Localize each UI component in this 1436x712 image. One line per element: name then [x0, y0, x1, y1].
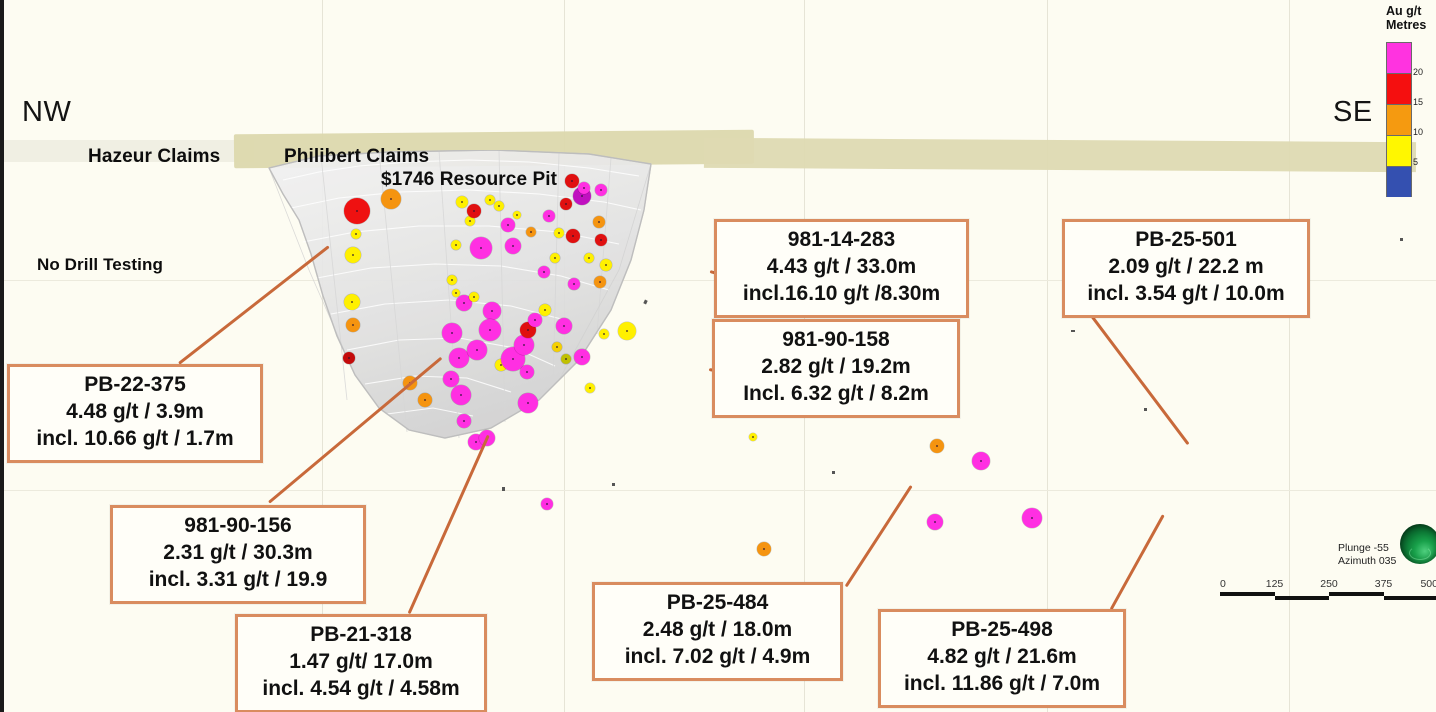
callout-hole-id: PB-21-318: [248, 622, 474, 649]
drill-intercept-disc: [494, 201, 504, 211]
callout-interval: 2.09 g/t / 22.2 m: [1075, 254, 1297, 281]
drill-intercept-disc: [485, 195, 495, 205]
drill-intercept-disc: [595, 184, 607, 196]
drill-intercept-disc: [346, 318, 360, 332]
callout-included-interval: incl. 4.54 g/t / 4.58m: [248, 676, 474, 703]
drill-intercept-disc: [479, 319, 501, 341]
legend-swatch: [1386, 166, 1412, 197]
drill-intercept-disc: [585, 383, 595, 393]
callout-hole-id: PB-25-498: [891, 617, 1113, 644]
drill-intercept-disc: [451, 385, 471, 405]
rock-speck: [1071, 330, 1075, 332]
rock-speck: [502, 487, 505, 491]
callout-interval: 4.43 g/t / 33.0m: [727, 254, 956, 281]
drill-intercept-disc: [749, 433, 757, 441]
drill-intercept-disc: [381, 189, 401, 209]
drill-intercept-disc: [556, 318, 572, 334]
callout-pb-22-375[interactable]: PB-22-3754.48 g/t / 3.9mincl. 10.66 g/t …: [7, 364, 263, 463]
scale-bar-ticks: 0125250375500: [1220, 578, 1436, 592]
view-orientation-text: Plunge -55 Azimuth 035: [1338, 542, 1396, 568]
callout-interval: 2.82 g/t / 19.2m: [725, 354, 947, 381]
drill-intercept-disc: [543, 210, 555, 222]
drill-intercept-disc: [593, 216, 605, 228]
drill-intercept-disc: [574, 349, 590, 365]
drill-intercept-disc: [757, 542, 771, 556]
scale-tick-label: 0: [1220, 578, 1226, 590]
drill-intercept-disc: [565, 174, 579, 188]
gridline-vertical: [1289, 0, 1290, 712]
legend-swatch: [1386, 104, 1412, 135]
legend-tick-label: 15: [1413, 97, 1423, 107]
scale-seg: [1329, 592, 1384, 596]
drill-intercept-disc: [514, 335, 534, 355]
callout-included-interval: incl. 10.66 g/t / 1.7m: [20, 426, 250, 453]
legend-color-bar: 2015105: [1386, 42, 1410, 197]
scale-tick-label: 125: [1266, 578, 1284, 590]
drill-intercept-disc: [351, 229, 361, 239]
section-label-philibert-claims: Philibert Claims: [284, 146, 429, 168]
rock-speck: [1400, 238, 1403, 241]
legend-title-line2: Metres: [1386, 18, 1430, 32]
drill-intercept-disc: [518, 393, 538, 413]
callout-interval: 2.48 g/t / 18.0m: [605, 617, 830, 644]
legend-tick-label: 5: [1413, 157, 1418, 167]
callout-interval: 1.47 g/t/ 17.0m: [248, 649, 474, 676]
drill-intercept-disc: [467, 340, 487, 360]
drill-intercept-disc: [528, 313, 542, 327]
orientation-label-nw: NW: [22, 96, 71, 129]
drill-intercept-disc: [526, 227, 536, 237]
scale-bar: 0125250375500: [1220, 578, 1436, 600]
azimuth-value: Azimuth 035: [1338, 555, 1396, 568]
legend-title-line1: Au g/t: [1386, 4, 1430, 18]
drill-intercept-disc: [505, 238, 521, 254]
drill-intercept-disc: [930, 439, 944, 453]
callout-included-interval: Incl. 6.32 g/t / 8.2m: [725, 381, 947, 408]
callout-hole-id: PB-22-375: [20, 372, 250, 399]
drill-intercept-disc: [566, 229, 580, 243]
scale-tick-label: 250: [1320, 578, 1338, 590]
rock-speck: [832, 471, 835, 474]
drill-intercept-disc: [469, 292, 479, 302]
orientation-sphere-icon: [1400, 524, 1436, 564]
drill-intercept-disc: [344, 294, 360, 310]
drill-intercept-disc: [600, 259, 612, 271]
gridline-horizontal: [4, 490, 1436, 491]
cross-section-figure: NW SE Hazeur ClaimsPhilibert Claims$1746…: [0, 0, 1436, 712]
drill-intercept-disc: [595, 234, 607, 246]
callout-included-interval: incl. 3.54 g/t / 10.0m: [1075, 281, 1297, 308]
drill-intercept-disc: [541, 498, 553, 510]
drill-intercept-disc: [451, 240, 461, 250]
callout-pb-25-501[interactable]: PB-25-5012.09 g/t / 22.2 mincl. 3.54 g/t…: [1062, 219, 1310, 318]
callout-hole-id: 981-90-158: [725, 327, 947, 354]
drill-intercept-disc: [418, 393, 432, 407]
callout-leader-line: [1091, 316, 1190, 446]
drill-intercept-disc: [449, 348, 469, 368]
callout-interval: 4.82 g/t / 21.6m: [891, 644, 1113, 671]
drill-intercept-disc: [578, 182, 590, 194]
drill-intercept-disc: [554, 228, 564, 238]
callout-981-90-156[interactable]: 981-90-1562.31 g/t / 30.3mincl. 3.31 g/t…: [110, 505, 366, 604]
callout-hole-id: 981-14-283: [727, 227, 956, 254]
legend-tick-label: 10: [1413, 127, 1423, 137]
drill-intercept-disc: [447, 275, 457, 285]
drill-intercept-disc: [561, 354, 571, 364]
drill-intercept-disc: [456, 196, 468, 208]
gridline-vertical: [322, 0, 323, 712]
drill-intercept-disc: [550, 253, 560, 263]
legend-swatch: [1386, 135, 1412, 166]
callout-hole-id: PB-25-484: [605, 590, 830, 617]
scale-bar-segments: [1220, 592, 1436, 600]
callout-pb-25-484[interactable]: PB-25-4842.48 g/t / 18.0mincl. 7.02 g/t …: [592, 582, 843, 681]
drill-intercept-disc: [594, 276, 606, 288]
callout-leader-line: [268, 357, 442, 504]
drill-intercept-disc: [552, 342, 562, 352]
legend-tick-label: 20: [1413, 67, 1423, 77]
callout-pb-21-318[interactable]: PB-21-3181.47 g/t/ 17.0mincl. 4.54 g/t /…: [235, 614, 487, 712]
legend-swatch: [1386, 42, 1412, 73]
section-label-no-drill-testing: No Drill Testing: [37, 255, 163, 275]
rock-speck: [612, 483, 615, 486]
scale-seg: [1384, 596, 1436, 600]
section-label-hazeur-claims: Hazeur Claims: [88, 146, 220, 168]
drill-intercept-disc: [501, 218, 515, 232]
callout-included-interval: incl. 11.86 g/t / 7.0m: [891, 671, 1113, 698]
rock-speck: [1144, 408, 1147, 411]
drill-intercept-disc: [584, 253, 594, 263]
callout-leader-line: [408, 435, 490, 614]
drill-intercept-disc: [470, 237, 492, 259]
callout-included-interval: incl. 3.31 g/t / 19.9: [123, 567, 353, 594]
drill-intercept-disc: [442, 323, 462, 343]
drill-intercept-disc: [599, 329, 609, 339]
drill-intercept-disc: [568, 278, 580, 290]
drill-intercept-disc: [539, 304, 551, 316]
legend-swatch: [1386, 73, 1412, 104]
callout-included-interval: incl. 7.02 g/t / 4.9m: [605, 644, 830, 671]
scale-tick-label: 375: [1375, 578, 1393, 590]
overburden-band-east: [704, 138, 1416, 172]
callout-pb-25-498[interactable]: PB-25-4984.82 g/t / 21.6mincl. 11.86 g/t…: [878, 609, 1126, 708]
scale-seg: [1275, 596, 1330, 600]
gridline-vertical: [1047, 0, 1048, 712]
legend: Au g/t Metres 2015105: [1386, 4, 1430, 197]
drill-intercept-disc: [344, 198, 370, 224]
callout-hole-id: 981-90-156: [123, 513, 353, 540]
callout-leader-line: [845, 485, 913, 587]
drill-intercept-disc: [927, 514, 943, 530]
drill-intercept-disc: [1022, 508, 1042, 528]
drill-intercept-disc: [345, 247, 361, 263]
drill-intercept-disc: [457, 414, 471, 428]
plunge-value: Plunge -55: [1338, 542, 1396, 555]
callout-leader-line: [1110, 514, 1165, 610]
drill-intercept-disc: [972, 452, 990, 470]
callout-hole-id: PB-25-501: [1075, 227, 1297, 254]
drill-intercept-disc: [538, 266, 550, 278]
scale-tick-label: 500: [1420, 578, 1436, 590]
callout-interval: 4.48 g/t / 3.9m: [20, 399, 250, 426]
drill-intercept-disc: [513, 211, 521, 219]
rock-speck: [643, 300, 647, 305]
drill-intercept-disc: [618, 322, 636, 340]
callout-981-14-283[interactable]: 981-14-2834.43 g/t / 33.0mincl.16.10 g/t…: [714, 219, 969, 318]
section-label-resource-pit: $1746 Resource Pit: [381, 169, 557, 191]
scale-seg: [1220, 592, 1275, 596]
drill-intercept-disc: [560, 198, 572, 210]
callout-interval: 2.31 g/t / 30.3m: [123, 540, 353, 567]
drill-intercept-disc: [520, 365, 534, 379]
orientation-label-se: SE: [1333, 96, 1373, 129]
drill-intercept-disc: [483, 302, 501, 320]
drill-intercept-disc: [467, 204, 481, 218]
callout-981-90-158[interactable]: 981-90-1582.82 g/t / 19.2mIncl. 6.32 g/t…: [712, 319, 960, 418]
drill-intercept-disc: [443, 371, 459, 387]
callout-leader-line: [178, 245, 330, 364]
drill-intercept-disc: [343, 352, 355, 364]
callout-included-interval: incl.16.10 g/t /8.30m: [727, 281, 956, 308]
